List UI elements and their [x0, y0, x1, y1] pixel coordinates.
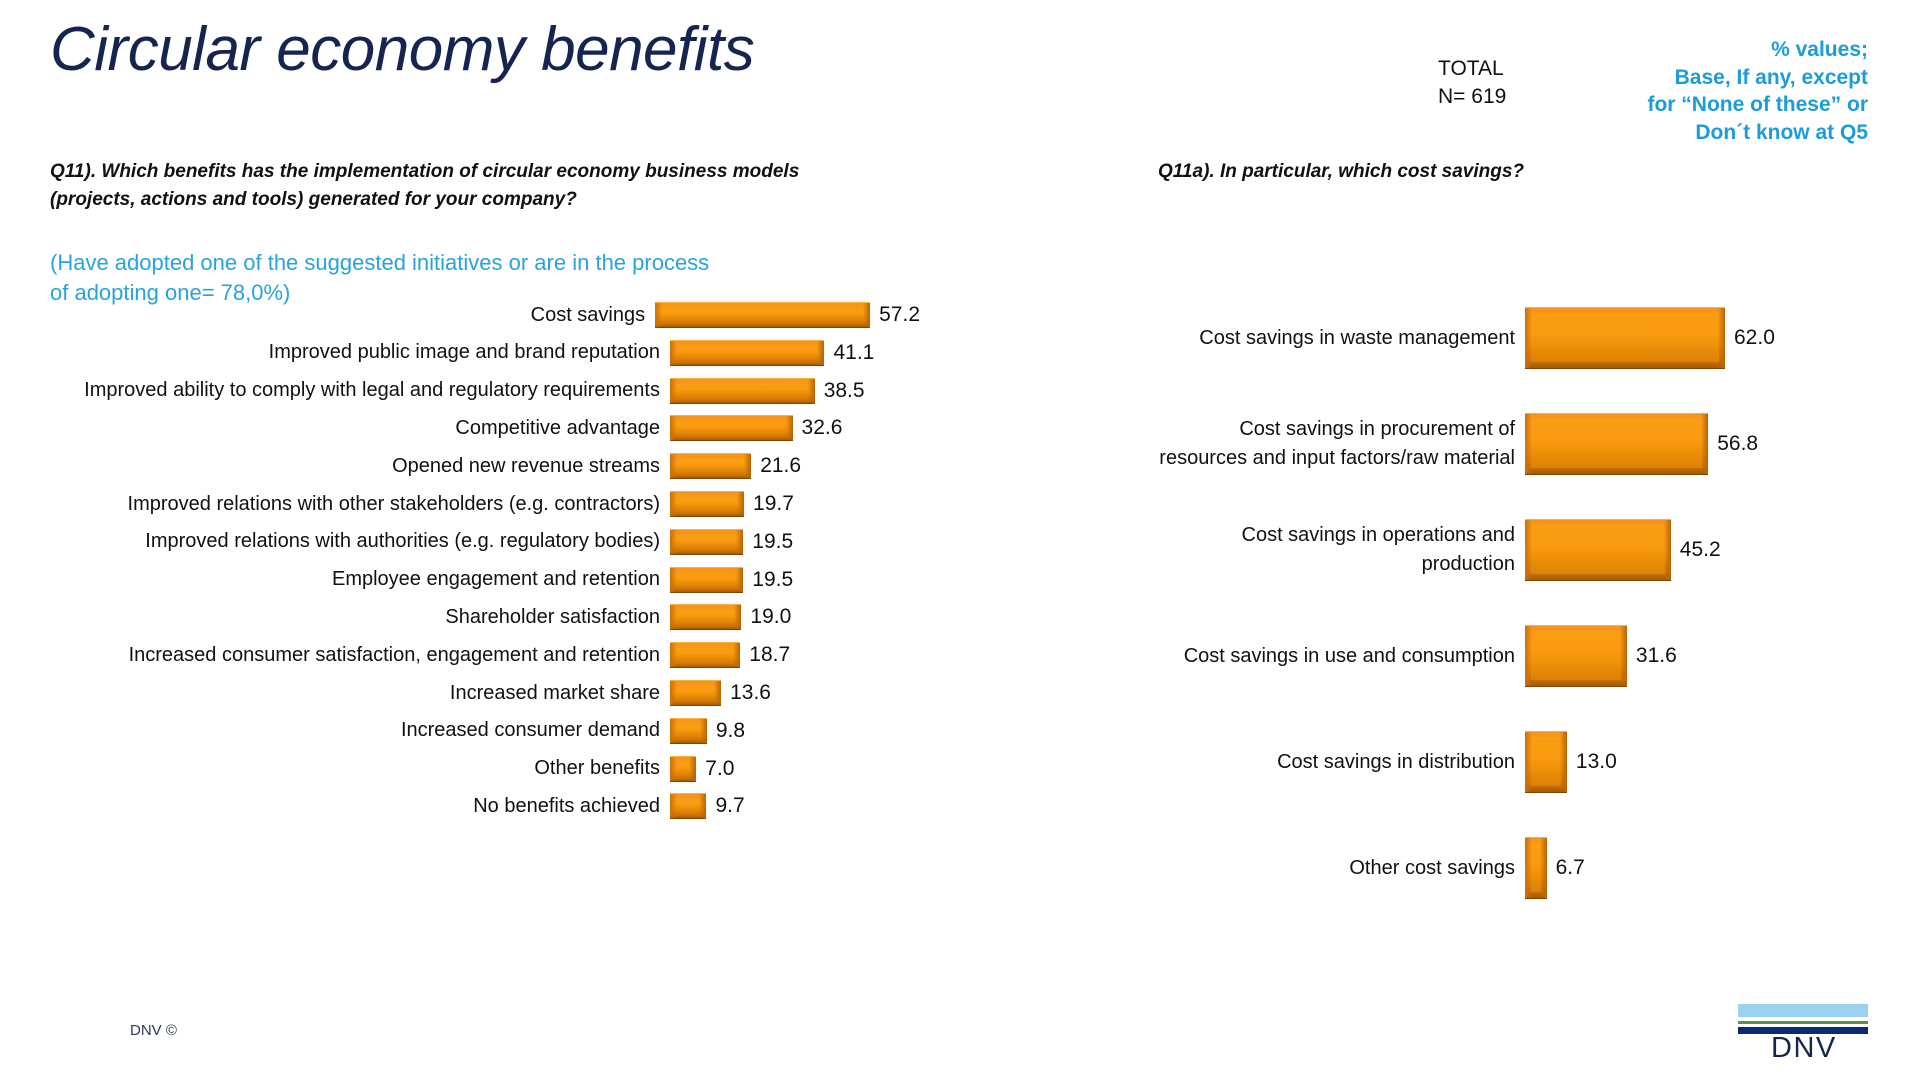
bar	[1525, 731, 1567, 793]
bar-area: 19.5	[670, 567, 793, 593]
bar-face	[676, 573, 737, 586]
page-title: Circular economy benefits	[50, 16, 754, 84]
category-label: Shareholder satisfaction	[40, 603, 670, 632]
chart-row: Shareholder satisfaction19.0	[40, 602, 920, 632]
chart-row: Increased market share13.6	[40, 678, 920, 708]
category-label: Increased consumer satisfaction, engagem…	[40, 641, 670, 670]
bar	[1525, 625, 1627, 687]
bar-value-label: 19.7	[744, 492, 794, 516]
bar	[1525, 837, 1547, 899]
bar-value-label: 13.6	[721, 681, 771, 705]
question-left: Q11). Which benefits has the implementat…	[50, 158, 890, 213]
bar-face	[661, 308, 864, 321]
category-label: Increased market share	[40, 679, 670, 708]
chart-row: Cost savings in operations and productio…	[1120, 517, 1880, 583]
bar-area: 7.0	[670, 756, 735, 782]
bar-face	[1531, 525, 1665, 574]
bar	[670, 567, 743, 593]
dnv-logo: DNV	[1738, 1004, 1868, 1060]
bar-face	[676, 762, 690, 775]
chart-row: Cost savings in use and consumption31.6	[1120, 623, 1880, 689]
category-label: Improved relations with authorities (e.g…	[40, 527, 670, 556]
bar-area: 38.5	[670, 378, 865, 404]
copyright-text: DNV ©	[130, 1022, 177, 1039]
bar-area: 45.2	[1525, 519, 1721, 581]
bar-value-label: 9.7	[706, 794, 744, 818]
bar-face	[1531, 419, 1702, 468]
category-label: Cost savings in waste management	[1120, 324, 1525, 353]
chart-row: Improved ability to comply with legal an…	[40, 376, 920, 406]
category-label: Increased consumer demand	[40, 716, 670, 745]
bar-value-label: 13.0	[1567, 750, 1617, 774]
chart-row: Competitive advantage32.6	[40, 413, 920, 443]
chart-circular-economy-benefits: Cost savings57.2Improved public image an…	[40, 300, 920, 940]
bar	[1525, 519, 1671, 581]
bar	[655, 302, 870, 328]
bar-face	[676, 346, 818, 359]
category-label: Opened new revenue streams	[40, 452, 670, 481]
logo-bar-lightblue	[1738, 1004, 1868, 1017]
category-label: Cost savings in procurement of resources…	[1120, 415, 1525, 473]
chart-row: Employee engagement and retention19.5	[40, 565, 920, 595]
bar	[670, 680, 721, 706]
question-right: Q11a). In particular, which cost savings…	[1158, 158, 1858, 186]
logo-wordmark: DNV	[1771, 1032, 1837, 1065]
slide-canvas: Circular economy benefits TOTAL N= 619 %…	[0, 0, 1920, 1080]
bar-value-label: 19.5	[743, 530, 793, 554]
bar-area: 9.7	[670, 793, 745, 819]
category-label: Competitive advantage	[40, 414, 670, 443]
bar-face	[676, 535, 737, 548]
bar-value-label: 19.5	[743, 568, 793, 592]
bar	[1525, 413, 1708, 475]
bar-value-label: 31.6	[1627, 644, 1677, 668]
logo-bar-green	[1738, 1021, 1868, 1024]
bar-face	[1531, 843, 1541, 892]
base-note-line-2: Base, If any, except	[1448, 64, 1868, 92]
bar	[670, 340, 824, 366]
bar	[670, 415, 793, 441]
chart-row: Cost savings in procurement of resources…	[1120, 411, 1880, 477]
category-label: Cost savings	[40, 301, 655, 330]
base-note-line-1: % values;	[1448, 36, 1868, 64]
bar-face	[676, 459, 745, 472]
bar-value-label: 21.6	[751, 454, 801, 478]
bar	[670, 453, 751, 479]
bar-value-label: 18.7	[740, 643, 790, 667]
bar-face	[1531, 313, 1719, 362]
chart-row: No benefits achieved9.7	[40, 791, 920, 821]
category-label: Improved ability to comply with legal an…	[40, 376, 670, 405]
bar-area: 56.8	[1525, 413, 1758, 475]
bar-area: 32.6	[670, 415, 842, 441]
base-note-line-4: Don´t know at Q5	[1448, 119, 1868, 147]
bar-value-label: 45.2	[1671, 538, 1721, 562]
bar-value-label: 32.6	[793, 416, 843, 440]
category-label: Improved public image and brand reputati…	[40, 338, 670, 367]
bar	[670, 793, 706, 819]
chart-row: Improved relations with authorities (e.g…	[40, 527, 920, 557]
chart-cost-savings-breakdown: Cost savings in waste management62.0Cost…	[1120, 305, 1880, 925]
bar-area: 57.2	[655, 302, 920, 328]
chart-row: Cost savings in distribution13.0	[1120, 729, 1880, 795]
bar	[670, 378, 815, 404]
bar-value-label: 19.0	[741, 605, 791, 629]
bar-value-label: 57.2	[870, 303, 920, 327]
bar-value-label: 56.8	[1708, 432, 1758, 456]
category-label: Other benefits	[40, 754, 670, 783]
bar-value-label: 41.1	[824, 341, 874, 365]
category-label: Cost savings in operations and productio…	[1120, 521, 1525, 579]
bar-face	[676, 799, 700, 812]
category-label: Other cost savings	[1120, 854, 1525, 883]
bar-value-label: 9.8	[707, 719, 745, 743]
bar-face	[676, 497, 738, 510]
chart-row: Improved public image and brand reputati…	[40, 338, 920, 368]
base-note: % values; Base, If any, except for “None…	[1448, 36, 1868, 147]
adoption-subnote-line-1: (Have adopted one of the suggested initi…	[50, 248, 810, 278]
bar	[670, 604, 741, 630]
bar-face	[1531, 631, 1621, 680]
bar	[670, 718, 707, 744]
bar	[670, 642, 740, 668]
bar	[1525, 307, 1725, 369]
bar-area: 6.7	[1525, 837, 1585, 899]
bar-face	[676, 724, 701, 737]
chart-row: Increased consumer demand9.8	[40, 716, 920, 746]
bar-area: 18.7	[670, 642, 790, 668]
category-label: No benefits achieved	[40, 792, 670, 821]
bar-area: 19.7	[670, 491, 794, 517]
chart-row: Improved relations with other stakeholde…	[40, 489, 920, 519]
bar-area: 41.1	[670, 340, 874, 366]
bar	[670, 756, 696, 782]
bar-area: 19.0	[670, 604, 791, 630]
chart-row: Opened new revenue streams21.6	[40, 451, 920, 481]
chart-row: Increased consumer satisfaction, engagem…	[40, 640, 920, 670]
category-label: Cost savings in distribution	[1120, 748, 1525, 777]
bar-face	[1531, 737, 1561, 786]
bar-face	[676, 686, 715, 699]
category-label: Cost savings in use and consumption	[1120, 642, 1525, 671]
bar-face	[676, 421, 787, 434]
bar-value-label: 62.0	[1725, 326, 1775, 350]
bar-area: 62.0	[1525, 307, 1775, 369]
chart-row: Other benefits7.0	[40, 754, 920, 784]
bar-area: 31.6	[1525, 625, 1677, 687]
chart-row: Other cost savings6.7	[1120, 835, 1880, 901]
category-label: Employee engagement and retention	[40, 565, 670, 594]
chart-row: Cost savings57.2	[40, 300, 920, 330]
chart-row: Cost savings in waste management62.0	[1120, 305, 1880, 371]
bar-face	[676, 610, 735, 623]
bar-area: 19.5	[670, 529, 793, 555]
bar-area: 13.6	[670, 680, 771, 706]
bar-face	[676, 648, 734, 661]
bar-area: 13.0	[1525, 731, 1617, 793]
bar	[670, 491, 744, 517]
bar-value-label: 7.0	[696, 757, 734, 781]
bar-area: 21.6	[670, 453, 801, 479]
category-label: Improved relations with other stakeholde…	[40, 490, 670, 519]
bar-face	[676, 384, 809, 397]
bar-value-label: 38.5	[815, 379, 865, 403]
bar	[670, 529, 743, 555]
base-note-line-3: for “None of these” or	[1448, 91, 1868, 119]
bar-area: 9.8	[670, 718, 745, 744]
bar-value-label: 6.7	[1547, 856, 1585, 880]
